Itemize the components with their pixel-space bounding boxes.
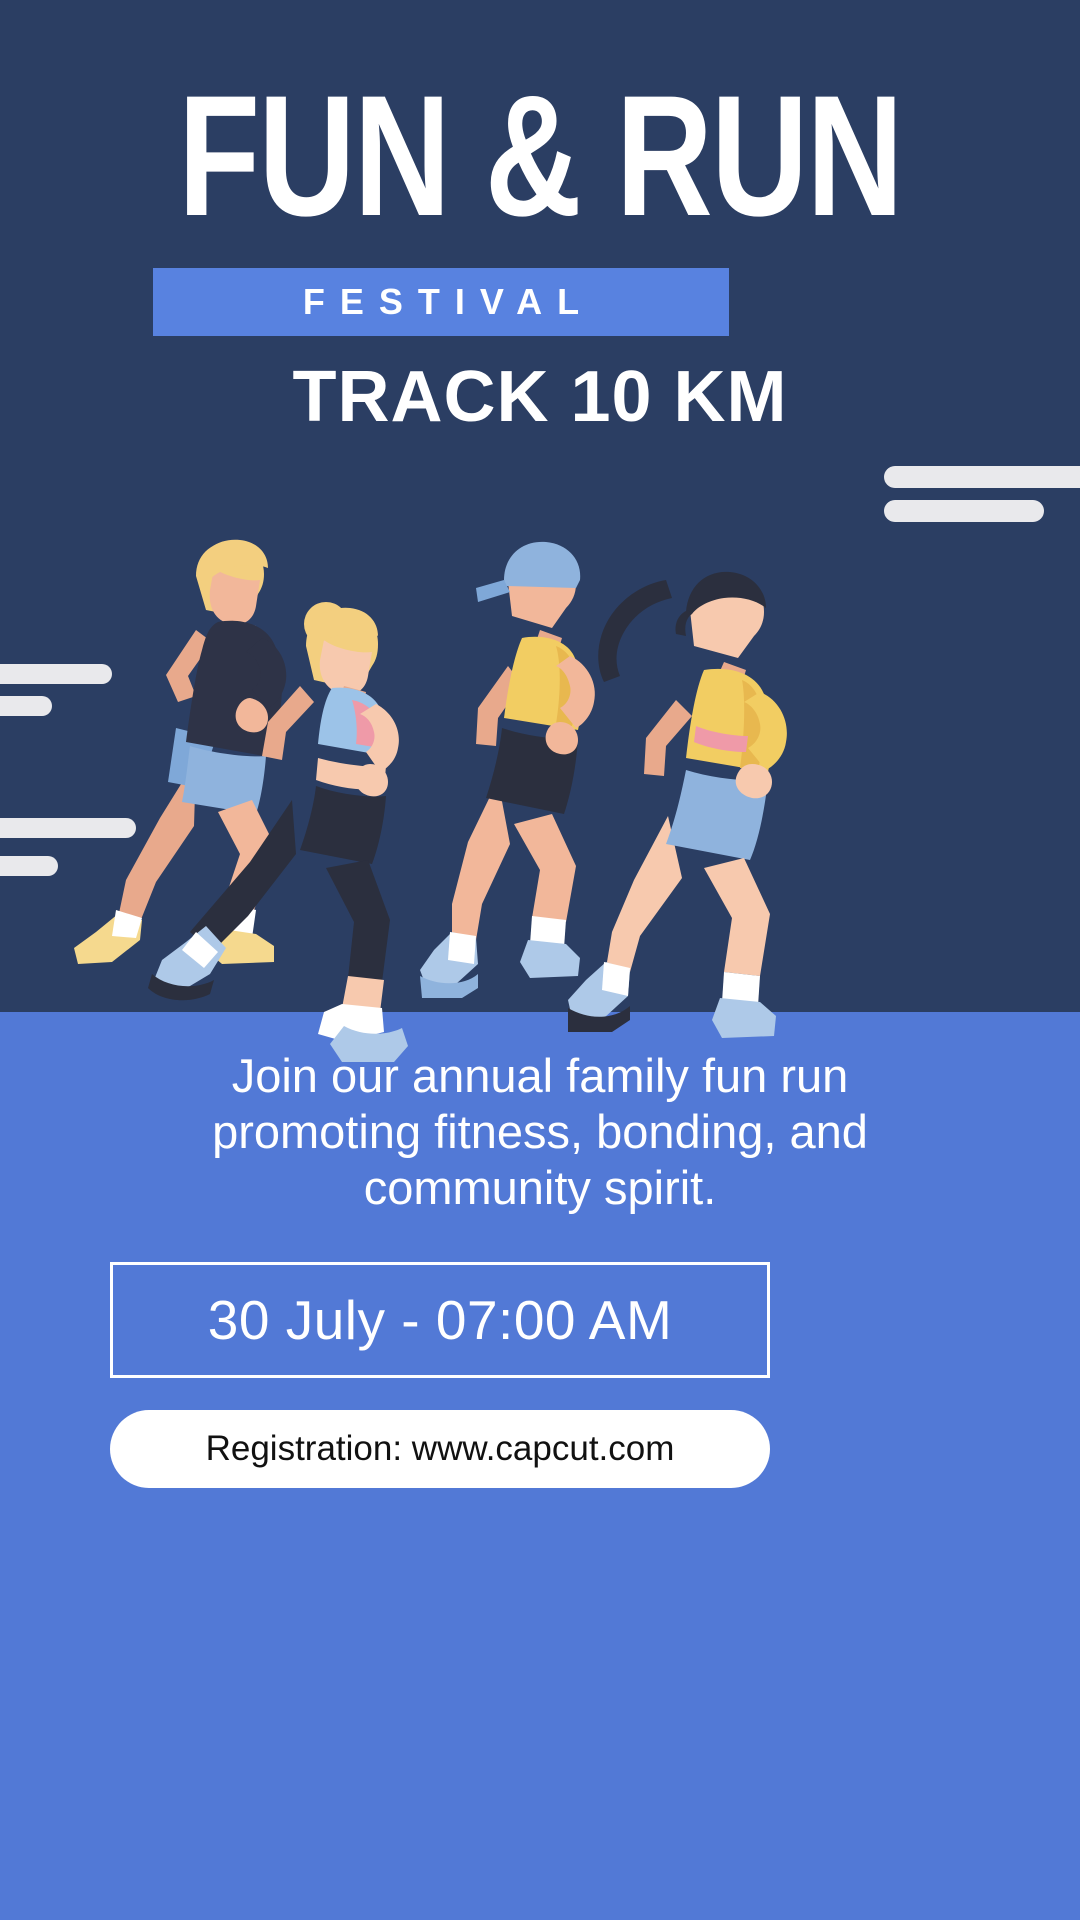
blurb-line-3: community spirit. bbox=[90, 1160, 990, 1216]
date-time-box: 30 July - 07:00 AM bbox=[110, 1262, 770, 1378]
poster-title: FUN & RUN bbox=[119, 82, 961, 230]
blurb-line-1: Join our annual family fun run bbox=[90, 1048, 990, 1104]
runner-3-cap-man bbox=[420, 542, 595, 998]
festival-band: FESTIVAL bbox=[153, 268, 729, 336]
poster-canvas: FUN & RUN FESTIVAL TRACK 10 KM bbox=[0, 0, 1080, 1920]
festival-label: FESTIVAL bbox=[288, 281, 594, 323]
blurb-paragraph: Join our annual family fun run promoting… bbox=[90, 1048, 990, 1216]
date-time-label: 30 July - 07:00 AM bbox=[208, 1288, 673, 1352]
runners-illustration bbox=[0, 470, 1080, 1070]
runner-4-ponytail-woman bbox=[568, 572, 787, 1038]
registration-button[interactable]: Registration: www.capcut.com bbox=[110, 1410, 770, 1488]
poster-subtitle: TRACK 10 KM bbox=[0, 356, 1080, 438]
blurb-line-2: promoting fitness, bonding, and bbox=[90, 1104, 990, 1160]
registration-label: Registration: www.capcut.com bbox=[206, 1429, 675, 1469]
